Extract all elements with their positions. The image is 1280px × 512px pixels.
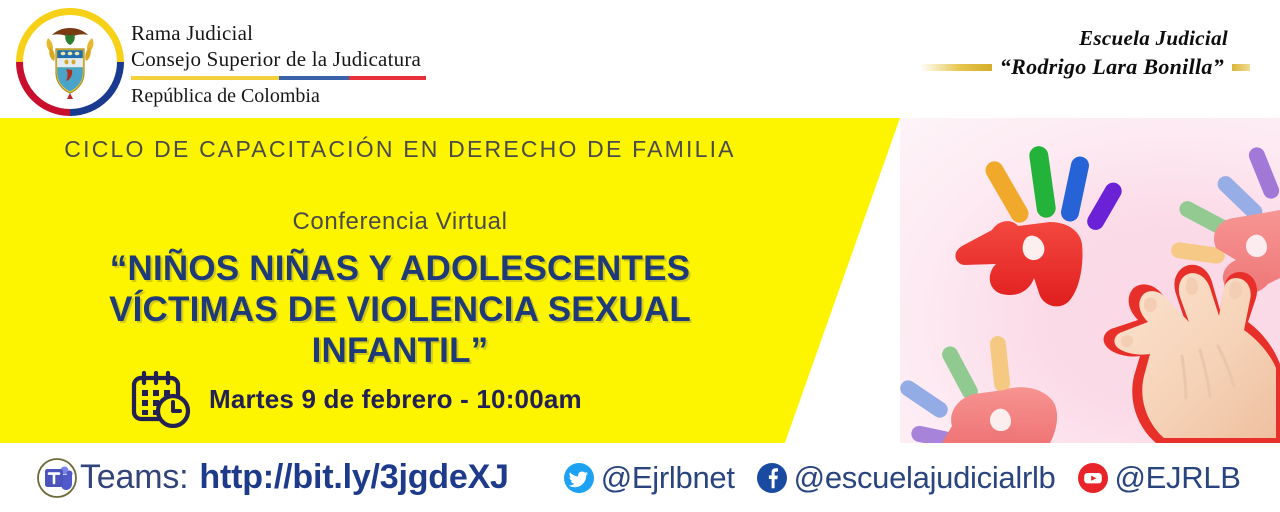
escuela-judicial-line1: Escuela Judicial <box>920 26 1250 51</box>
microsoft-teams-icon <box>36 457 78 499</box>
twitter-icon <box>564 463 594 493</box>
handprints-artwork <box>900 118 1280 443</box>
social-links-group: @Ejrlbnet @escuelajudicialrlb @EJRLB <box>564 460 1263 496</box>
youtube-icon <box>1078 463 1108 493</box>
rama-judicial-wordmark: Rama Judicial Consejo Superior de la Jud… <box>131 20 451 108</box>
handprint-bottom-left <box>900 335 1057 443</box>
youtube-handle[interactable]: @EJRLB <box>1115 460 1241 496</box>
escuela-judicial-line2-row: “Rodrigo Lara Bonilla” <box>920 54 1250 80</box>
teams-label: Teams: <box>80 458 188 497</box>
gold-bar-right-icon <box>1232 64 1250 71</box>
tricolor-blue <box>279 76 350 80</box>
social-item-youtube[interactable]: @EJRLB <box>1078 460 1241 496</box>
page-header: Rama Judicial Consejo Superior de la Jud… <box>0 0 1280 118</box>
colorful-handprints-illustration-icon <box>900 118 1280 443</box>
rama-judicial-line1: Rama Judicial <box>131 20 451 46</box>
social-item-facebook[interactable]: @escuelajudicialrlb <box>757 460 1056 496</box>
poster-title: “NIÑOS NIÑAS Y ADOLESCENTES VÍCTIMAS DE … <box>0 248 800 371</box>
social-item-twitter[interactable]: @Ejrlbnet <box>564 460 735 496</box>
twitter-handle[interactable]: @Ejrlbnet <box>601 460 735 496</box>
colombia-coat-of-arms-icon <box>16 8 124 116</box>
calendar-clock-icon <box>130 370 192 428</box>
escuela-judicial-line2: “Rodrigo Lara Bonilla” <box>1000 54 1224 80</box>
escuela-judicial-wordmark: Escuela Judicial “Rodrigo Lara Bonilla” <box>920 26 1250 80</box>
facebook-icon <box>757 463 787 493</box>
rama-judicial-line2: Consejo Superior de la Judicatura <box>131 46 451 72</box>
poster-title-line3: INFANTIL” <box>0 330 800 371</box>
poster-title-line1: “NIÑOS NIÑAS Y ADOLESCENTES <box>0 248 800 289</box>
tricolor-yellow <box>131 76 279 80</box>
poster-date-text: Martes 9 de febrero - 10:00am <box>209 384 582 415</box>
teams-link-group[interactable]: Teams: http://bit.ly/3jgdeXJ <box>36 457 509 499</box>
facebook-handle[interactable]: @escuelajudicialrlb <box>794 460 1056 496</box>
footer-bar: Teams: http://bit.ly/3jgdeXJ @Ejrlbnet @… <box>0 443 1280 512</box>
teams-url[interactable]: http://bit.ly/3jgdeXJ <box>199 458 508 497</box>
tricolor-red <box>349 76 426 80</box>
handprint-top-left <box>955 145 1124 306</box>
poster-title-line2: VÍCTIMAS DE VIOLENCIA SEXUAL <box>0 289 800 330</box>
poster-eyebrow: CICLO DE CAPACITACIÓN EN DERECHO DE FAMI… <box>0 136 800 163</box>
poster-kicker: Conferencia Virtual <box>0 208 800 236</box>
colombia-tricolor-rule <box>131 76 426 80</box>
republica-de-colombia-label: República de Colombia <box>131 85 451 108</box>
gold-bar-left-icon <box>920 64 992 71</box>
poster-date-row: Martes 9 de febrero - 10:00am <box>130 370 582 428</box>
poster-yellow-panel: CICLO DE CAPACITACIÓN EN DERECHO DE FAMI… <box>0 118 900 443</box>
coat-of-arms-shield-icon <box>40 25 100 99</box>
child-hand-illustration <box>1104 265 1280 443</box>
